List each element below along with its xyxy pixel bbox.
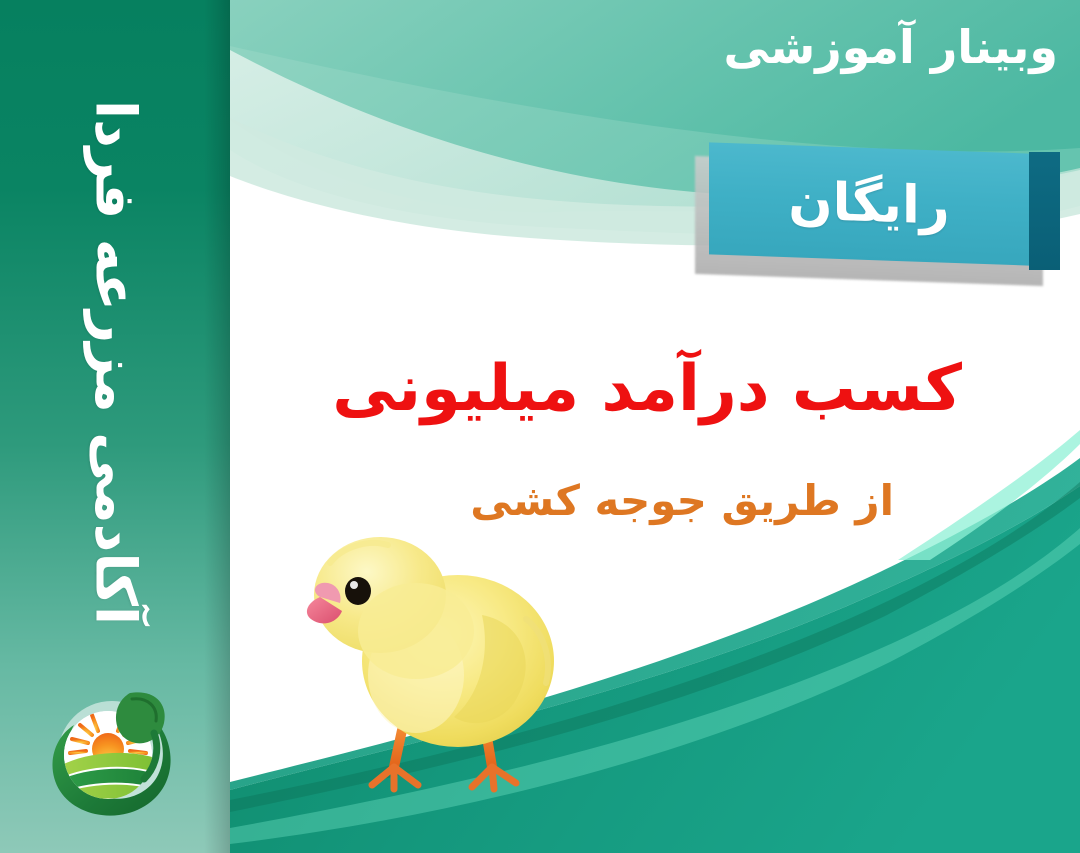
ribbon-fold: [1029, 152, 1060, 270]
webinar-poster: وبینار آموزشی رایگان کسب درآمد میلیونی ا…: [0, 0, 1080, 853]
brand-name-vertical: آکادمی مزرعه فردا: [83, 100, 148, 625]
page-title: وبینار آموزشی: [723, 20, 1058, 74]
farm-sun-leaf-logo-icon: [34, 675, 194, 825]
subheadline-text: از طریق جوجه کشی: [470, 476, 894, 525]
sidebar-edge-shadow: [204, 0, 230, 853]
brand-sidebar: آکادمی مزرعه فردا: [0, 0, 230, 853]
free-ribbon-badge: رایگان: [709, 148, 1059, 274]
ribbon-label: رایگان: [709, 142, 1029, 265]
yellow-chick-photo: [276, 523, 586, 813]
poster-canvas: وبینار آموزشی رایگان کسب درآمد میلیونی ا…: [230, 0, 1080, 853]
headline-text: کسب درآمد میلیونی: [332, 352, 962, 426]
